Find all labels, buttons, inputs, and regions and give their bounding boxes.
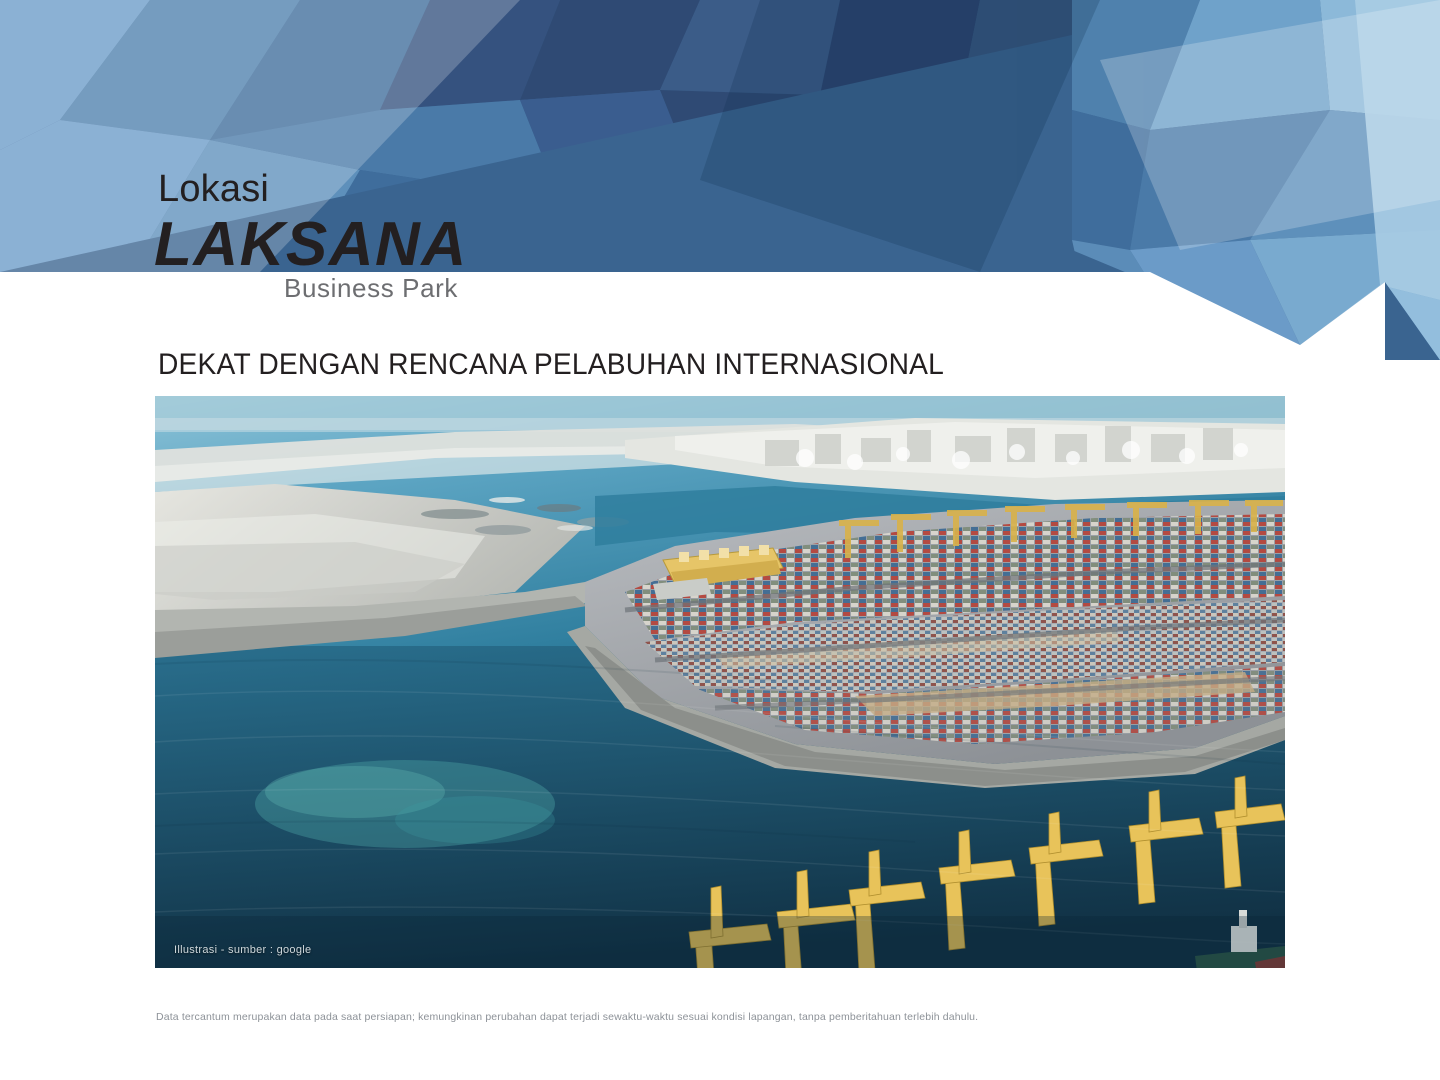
slide-heading: DEKAT DENGAN RENCANA PELABUHAN INTERNASI… xyxy=(158,348,944,382)
logo-brand-name: LAKSANA xyxy=(154,212,578,277)
port-aerial-photo xyxy=(155,396,1285,968)
poly-facets-right xyxy=(1072,0,1440,360)
logo-pretitle: Lokasi xyxy=(158,170,578,208)
photo-source-caption: Illustrasi - sumber : google xyxy=(174,944,311,956)
brand-logo: Lokasi LAKSANA Business Park xyxy=(158,170,578,304)
disclaimer-text: Data tercantum merupakan data pada saat … xyxy=(156,1011,978,1023)
